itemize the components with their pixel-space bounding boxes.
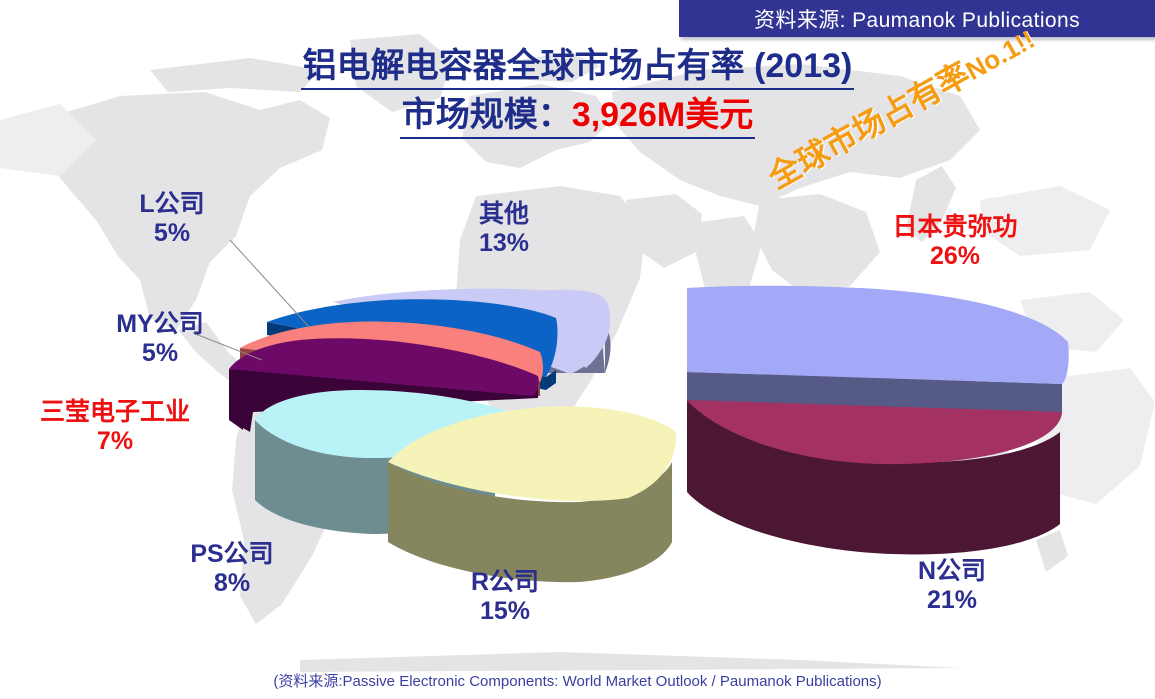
source-header-text: 资料来源: Paumanok Publications — [754, 4, 1080, 34]
page-title-year: (2013) — [745, 47, 853, 85]
label-other: 其他 13% — [404, 200, 604, 257]
label-r-company-percent: 15% — [405, 597, 605, 626]
label-n-company-name: N公司 — [852, 557, 1052, 586]
label-l-company-name: L公司 — [92, 190, 252, 219]
label-my-company: MY公司 5% — [60, 310, 260, 367]
label-ps-company: PS公司 8% — [132, 540, 332, 597]
label-nippon-chemicon-percent: 26% — [830, 242, 1080, 271]
label-samyoung: 三莹电子工业 7% — [0, 398, 230, 455]
label-nippon-chemicon: 日本贵弥功 26% — [830, 213, 1080, 270]
label-ps-company-name: PS公司 — [132, 540, 332, 569]
page-title-line-1: 铝电解电容器全球市场占有率 (2013) — [301, 44, 855, 90]
label-samyoung-name: 三莹电子工业 — [0, 398, 230, 427]
market-size-prefix: 市场规模： — [402, 96, 572, 134]
label-l-company: L公司 5% — [92, 190, 252, 247]
label-n-company-percent: 21% — [852, 586, 1052, 615]
label-r-company-name: R公司 — [405, 568, 605, 597]
label-nippon-chemicon-name: 日本贵弥功 — [830, 213, 1080, 242]
slide-canvas: 资料来源: Paumanok Publications 铝电解电容器全球市场占有… — [0, 0, 1155, 699]
page-title-line-2: 市场规模：3,926M美元 — [400, 93, 755, 139]
source-header-bar: 资料来源: Paumanok Publications — [679, 0, 1155, 37]
footer-source-note: (资料来源:Passive Electronic Components: Wor… — [0, 670, 1155, 691]
label-ps-company-percent: 8% — [132, 569, 332, 598]
page-title-main: 铝电解电容器全球市场占有率 — [303, 47, 745, 85]
label-my-company-percent: 5% — [60, 339, 260, 368]
label-r-company: R公司 15% — [405, 568, 605, 625]
footer-source-text: (资料来源:Passive Electronic Components: Wor… — [273, 673, 881, 690]
market-size-value: 3,926M — [572, 96, 685, 134]
label-my-company-name: MY公司 — [60, 310, 260, 339]
market-size-unit: 美元 — [685, 96, 753, 134]
label-n-company: N公司 21% — [852, 557, 1052, 614]
label-samyoung-percent: 7% — [0, 427, 230, 456]
label-other-percent: 13% — [404, 229, 604, 258]
label-other-name: 其他 — [404, 200, 604, 229]
label-l-company-percent: 5% — [92, 219, 252, 248]
